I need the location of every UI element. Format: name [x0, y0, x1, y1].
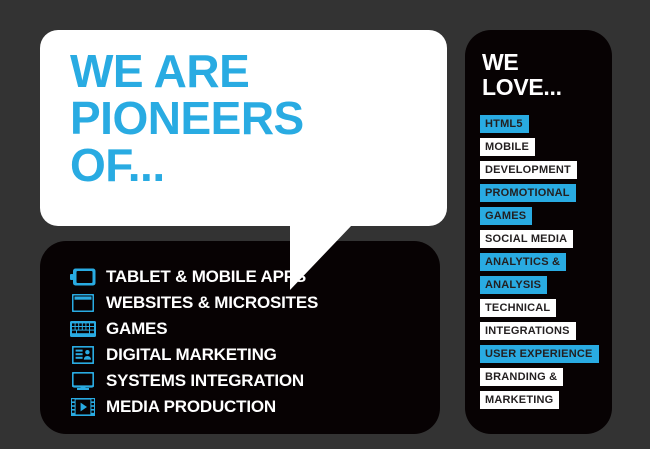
tag-row: USER EXPERIENCE — [480, 344, 599, 367]
tag-row: TECHNICAL — [480, 298, 599, 321]
poster-canvas: TABLET & MOBILE APPSWEBSITES & MICROSITE… — [0, 0, 650, 449]
tag-chip[interactable]: SOCIAL MEDIA — [480, 230, 573, 248]
tag-chip[interactable]: USER EXPERIENCE — [480, 345, 599, 363]
tag-chip[interactable]: INTEGRATIONS — [480, 322, 576, 340]
tag-chip[interactable]: BRANDING & — [480, 368, 563, 386]
page-title: WE ARE PIONEERS OF... — [70, 48, 304, 189]
tag-row: HTML5 — [480, 114, 599, 137]
browser-window-icon — [68, 292, 98, 314]
service-label: WEBSITES & MICROSITES — [106, 293, 318, 313]
tag-row: PROMOTIONAL — [480, 183, 599, 206]
tablet-icon — [68, 266, 98, 288]
tag-row: ANALYTICS & — [480, 252, 599, 275]
id-card-icon — [68, 344, 98, 366]
tag-chip[interactable]: ANALYSIS — [480, 276, 547, 294]
service-row[interactable]: GAMES — [68, 317, 430, 341]
service-label: TABLET & MOBILE APPS — [106, 267, 306, 287]
tag-chip[interactable]: ANALYTICS & — [480, 253, 566, 271]
service-label: MEDIA PRODUCTION — [106, 397, 276, 417]
tag-row: MOBILE — [480, 137, 599, 160]
service-label: DIGITAL MARKETING — [106, 345, 277, 365]
tag-chip[interactable]: MARKETING — [480, 391, 559, 409]
service-row[interactable]: TABLET & MOBILE APPS — [68, 265, 430, 289]
service-row[interactable]: MEDIA PRODUCTION — [68, 395, 430, 419]
tag-row: SOCIAL MEDIA — [480, 229, 599, 252]
tag-chip[interactable]: HTML5 — [480, 115, 529, 133]
tag-chip[interactable]: GAMES — [480, 207, 532, 225]
tag-row: ANALYSIS — [480, 275, 599, 298]
we-love-title: WE LOVE... — [482, 50, 562, 100]
tag-row: MARKETING — [480, 390, 599, 413]
tag-chip[interactable]: DEVELOPMENT — [480, 161, 577, 179]
service-row[interactable]: WEBSITES & MICROSITES — [68, 291, 430, 315]
tag-chip[interactable]: TECHNICAL — [480, 299, 556, 317]
we-love-panel: WE LOVE... HTML5MOBILEDEVELOPMENTPROMOTI… — [465, 30, 612, 434]
tag-list: HTML5MOBILEDEVELOPMENTPROMOTIONALGAMESSO… — [480, 114, 599, 413]
speech-bubble-tail — [290, 225, 352, 290]
service-label: SYSTEMS INTEGRATION — [106, 371, 304, 391]
services-list: TABLET & MOBILE APPSWEBSITES & MICROSITE… — [68, 265, 430, 421]
services-panel: TABLET & MOBILE APPSWEBSITES & MICROSITE… — [40, 241, 440, 434]
tag-row: DEVELOPMENT — [480, 160, 599, 183]
service-row[interactable]: SYSTEMS INTEGRATION — [68, 369, 430, 393]
tag-chip[interactable]: MOBILE — [480, 138, 535, 156]
tag-row: INTEGRATIONS — [480, 321, 599, 344]
service-label: GAMES — [106, 319, 167, 339]
keyboard-icon — [68, 318, 98, 340]
tag-row: BRANDING & — [480, 367, 599, 390]
tag-row: GAMES — [480, 206, 599, 229]
service-row[interactable]: DIGITAL MARKETING — [68, 343, 430, 367]
tag-chip[interactable]: PROMOTIONAL — [480, 184, 576, 202]
desktop-monitor-icon — [68, 370, 98, 392]
film-strip-play-icon — [68, 396, 98, 418]
speech-bubble: WE ARE PIONEERS OF... — [40, 30, 447, 226]
